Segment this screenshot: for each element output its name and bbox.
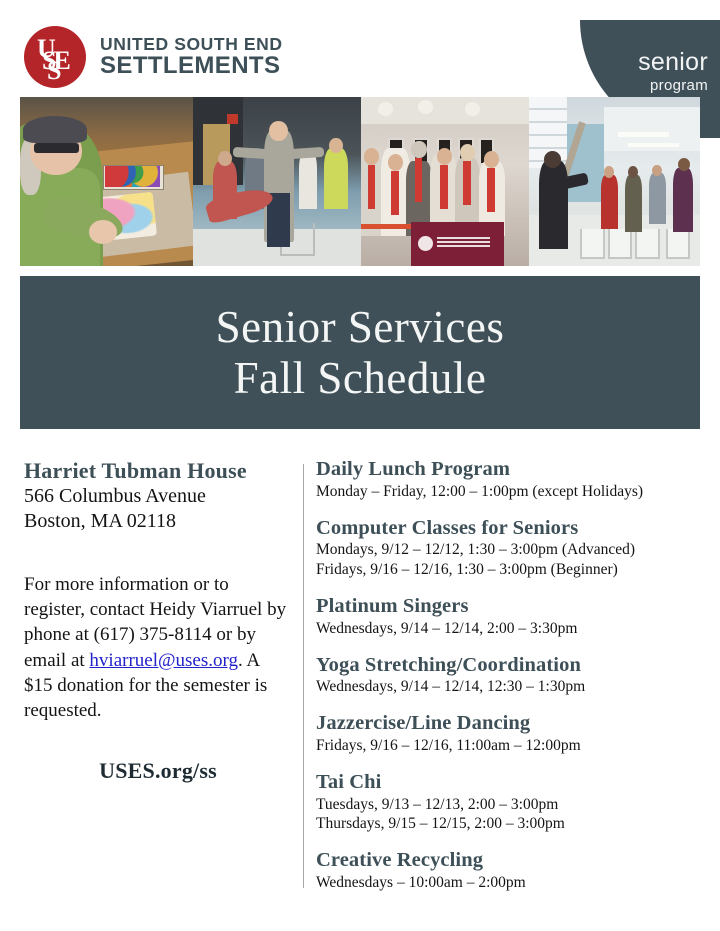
contact-paragraph: For more information or to register, con… (24, 572, 292, 724)
program-item: Tai Chi Tuesdays, 9/13 – 12/13, 2:00 – 3… (316, 771, 706, 834)
photo-painting-watercolors (20, 97, 193, 266)
photo-choir-singing (361, 97, 529, 266)
program-title: Computer Classes for Seniors (316, 517, 706, 541)
badge-line-senior: senior (638, 50, 708, 75)
program-schedule-line: Monday – Friday, 12:00 – 1:00pm (except … (316, 482, 706, 502)
program-item: Platinum Singers Wednesdays, 9/14 – 12/1… (316, 595, 706, 639)
program-item: Daily Lunch Program Monday – Friday, 12:… (316, 458, 706, 502)
program-item: Creative Recycling Wednesdays – 10:00am … (316, 849, 706, 893)
org-name-line2: SETTLEMENTS (100, 53, 283, 79)
program-schedule-line: Mondays, 9/12 – 12/12, 1:30 – 3:00pm (Ad… (316, 540, 706, 560)
photo-group-exercise (193, 97, 361, 266)
program-title: Creative Recycling (316, 849, 706, 873)
page-title-line1: Senior Services (216, 302, 505, 352)
program-schedule-line: Fridays, 9/16 – 12/16, 1:30 – 3:00pm (Be… (316, 560, 706, 580)
program-title: Daily Lunch Program (316, 458, 706, 482)
column-divider (303, 464, 304, 888)
program-schedule-line: Wednesdays, 9/14 – 12/14, 2:00 – 3:30pm (316, 619, 706, 639)
left-column: Harriet Tubman House 566 Columbus Avenue… (24, 458, 292, 784)
photo-strip (20, 97, 700, 266)
program-schedule-line: Thursdays, 9/15 – 12/15, 2:00 – 3:00pm (316, 814, 706, 834)
program-schedule-line: Fridays, 9/16 – 12/16, 11:00am – 12:00pm (316, 736, 706, 756)
website-url[interactable]: USES.org/ss (24, 758, 292, 784)
photo-line-dancing (529, 97, 700, 266)
program-schedule-line: Wednesdays – 10:00am – 2:00pm (316, 873, 706, 893)
senior-program-badge-text: senior program (638, 50, 708, 93)
program-title: Platinum Singers (316, 595, 706, 619)
program-title: Jazzercise/Line Dancing (316, 712, 706, 736)
program-title: Yoga Stretching/Coordination (316, 654, 706, 678)
page-header: U SE S UNITED SOUTH END SETTLEMENTS seni… (0, 0, 720, 95)
page-title: Senior Services Fall Schedule (216, 302, 505, 403)
program-schedule-line: Wednesdays, 9/14 – 12/14, 12:30 – 1:30pm (316, 677, 706, 697)
location-street: 566 Columbus Avenue (24, 484, 292, 509)
program-item: Computer Classes for Seniors Mondays, 9/… (316, 517, 706, 580)
uses-circle-logo-icon: U SE S (24, 26, 86, 88)
location-city-state-zip: Boston, MA 02118 (24, 509, 292, 534)
program-item: Yoga Stretching/Coordination Wednesdays,… (316, 654, 706, 698)
title-banner: Senior Services Fall Schedule (20, 276, 700, 429)
program-schedule-line: Tuesdays, 9/13 – 12/13, 2:00 – 3:00pm (316, 795, 706, 815)
badge-line-program: program (638, 78, 708, 93)
logo-monogram-s: S (47, 58, 61, 84)
organization-logo-block: U SE S UNITED SOUTH END SETTLEMENTS (24, 26, 283, 88)
program-title: Tai Chi (316, 771, 706, 795)
program-schedule-list: Daily Lunch Program Monday – Friday, 12:… (316, 458, 706, 893)
program-item: Jazzercise/Line Dancing Fridays, 9/16 – … (316, 712, 706, 756)
organization-name: UNITED SOUTH END SETTLEMENTS (100, 35, 283, 80)
page-title-line2: Fall Schedule (216, 353, 505, 403)
location-name: Harriet Tubman House (24, 458, 292, 484)
org-name-line1: UNITED SOUTH END (100, 35, 283, 54)
contact-email-link[interactable]: hviarruel@uses.org (89, 650, 238, 671)
